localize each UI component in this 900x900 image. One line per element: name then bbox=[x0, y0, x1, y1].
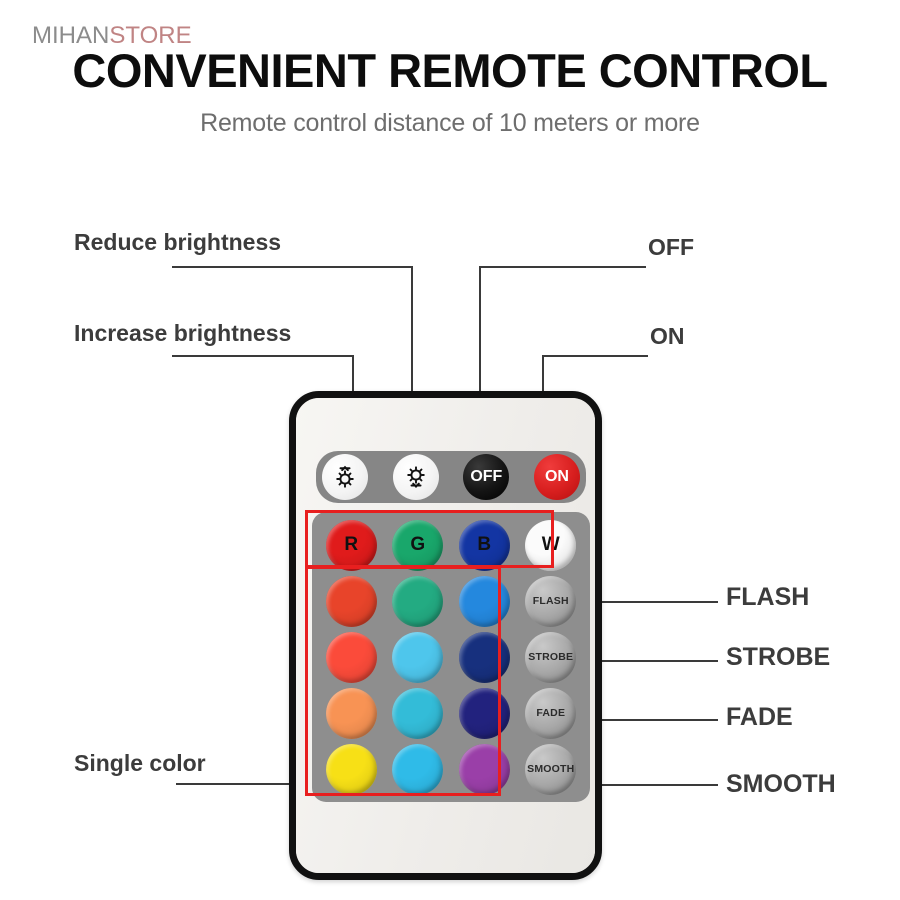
callout-on: ON bbox=[650, 325, 685, 348]
mode-button-strobe[interactable]: STROBE bbox=[525, 632, 576, 683]
page-subtitle: Remote control distance of 10 meters or … bbox=[0, 110, 900, 138]
callout-flash: FLASH bbox=[726, 585, 809, 610]
mode-button-fade[interactable]: FADE bbox=[525, 688, 576, 739]
brightness-up-button[interactable] bbox=[322, 454, 368, 500]
leader-line-off-h bbox=[479, 266, 646, 268]
top-button-row: OFF ON bbox=[316, 451, 586, 503]
mode-button-flash[interactable]: FLASH bbox=[525, 576, 576, 627]
callout-smooth: SMOOTH bbox=[726, 772, 836, 797]
mode-button-smooth[interactable]: SMOOTH bbox=[525, 744, 576, 795]
callout-fade: FADE bbox=[726, 705, 793, 730]
leader-line-increase-brightness-h bbox=[172, 355, 353, 357]
brightness-down-button[interactable] bbox=[393, 454, 439, 500]
highlight-box-rgbw bbox=[305, 510, 554, 568]
infographic-canvas: MIHANSTORE CONVENIENT REMOTE CONTROL Rem… bbox=[0, 0, 900, 900]
off-button[interactable]: OFF bbox=[463, 454, 509, 500]
callout-reduce-brightness: Reduce brightness bbox=[74, 231, 281, 254]
on-button[interactable]: ON bbox=[534, 454, 580, 500]
callout-off: OFF bbox=[648, 236, 694, 259]
callout-single-color: Single color bbox=[74, 752, 206, 775]
callout-increase-brightness: Increase brightness bbox=[74, 322, 291, 345]
leader-line-on-h bbox=[542, 355, 648, 357]
sun-up-icon bbox=[330, 462, 360, 492]
callout-strobe: STROBE bbox=[726, 645, 830, 670]
leader-line-reduce-brightness-h bbox=[172, 266, 412, 268]
page-title: CONVENIENT REMOTE CONTROL bbox=[0, 46, 900, 95]
sun-down-icon bbox=[401, 462, 431, 492]
highlight-box-single-color bbox=[305, 566, 501, 796]
